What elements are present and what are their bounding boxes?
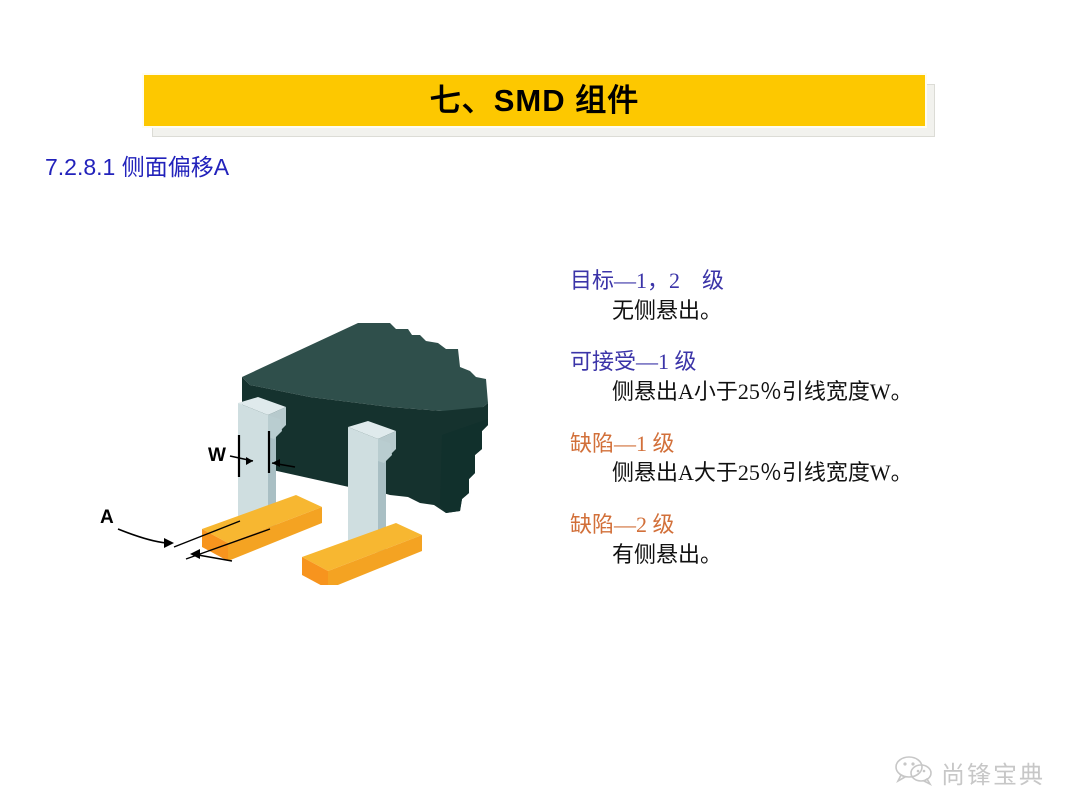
criteria-body: 侧悬出A小于25％引线宽度W。: [570, 377, 990, 407]
dimension-label-w: W: [208, 445, 226, 466]
dimension-label-a: A: [100, 507, 114, 528]
watermark-logo: 尚锋宝典: [893, 748, 1065, 796]
criteria-heading: 缺陷—2 级: [570, 510, 990, 540]
dimension-a-leader-line: [118, 529, 166, 543]
smd-lead-illustration: W A: [90, 315, 520, 585]
section-subtitle: 7.2.8.1 侧面偏移A: [45, 148, 229, 182]
criteria-body: 侧悬出A大于25％引线宽度W。: [570, 458, 990, 488]
acceptance-criteria-list: 目标—1，2 级 无侧悬出。 可接受—1 级 侧悬出A小于25％引线宽度W。 缺…: [570, 266, 990, 570]
criteria-heading: 可接受—1 级: [570, 347, 990, 377]
criteria-group: 缺陷—1 级 侧悬出A大于25％引线宽度W。: [570, 429, 990, 488]
criteria-group: 目标—1，2 级 无侧悬出。: [570, 266, 990, 325]
criteria-body: 有侧悬出。: [570, 540, 990, 570]
criteria-heading: 目标—1，2 级: [570, 266, 990, 296]
criteria-heading: 缺陷—1 级: [570, 429, 990, 459]
criteria-body: 无侧悬出。: [570, 296, 990, 326]
dimension-a-arrowhead: [164, 538, 174, 548]
watermark-text: 尚锋宝典: [941, 755, 1045, 790]
criteria-group: 缺陷—2 级 有侧悬出。: [570, 510, 990, 569]
page-title: 七、SMD 组件: [430, 85, 640, 116]
title-banner: 七、SMD 组件: [144, 75, 925, 126]
wechat-bubble-icon: [893, 754, 933, 791]
criteria-group: 可接受—1 级 侧悬出A小于25％引线宽度W。: [570, 347, 990, 406]
